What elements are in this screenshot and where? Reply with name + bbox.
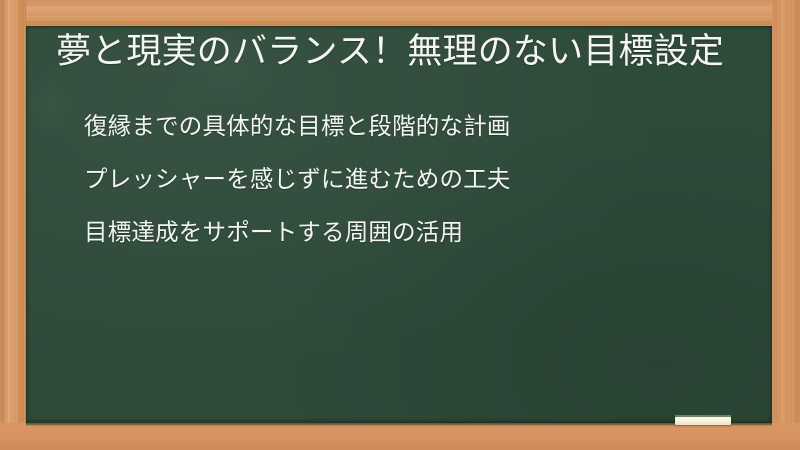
- list-item: 目標達成をサポートする周囲の活用: [56, 206, 748, 259]
- frame-rail-bottom-chalk-ledge: [0, 423, 800, 450]
- chalkboard-slide: 夢と現実のバランス！無理のない目標設定 復縁までの具体的な目標と段階的な計画 プ…: [0, 0, 800, 450]
- bullet-list: 復縁までの具体的な目標と段階的な計画 プレッシャーを感じずに進むための工夫 目標…: [56, 100, 748, 259]
- chalk-stick-icon: [675, 417, 731, 425]
- list-item: 復縁までの具体的な目標と段階的な計画: [56, 100, 748, 153]
- page-title: 夢と現実のバランス！無理のない目標設定: [56, 30, 746, 74]
- list-item: プレッシャーを感じずに進むための工夫: [56, 153, 748, 206]
- chalkboard-surface: 夢と現実のバランス！無理のない目標設定 復縁までの具体的な目標と段階的な計画 プ…: [26, 26, 772, 423]
- frame-rail-left: [0, 0, 26, 450]
- board-bottom-shadow: [26, 423, 772, 426]
- frame-rail-top: [0, 0, 800, 26]
- frame-rail-right: [772, 0, 800, 450]
- chalkboard-content: 夢と現実のバランス！無理のない目標設定 復縁までの具体的な目標と段階的な計画 プ…: [26, 26, 772, 423]
